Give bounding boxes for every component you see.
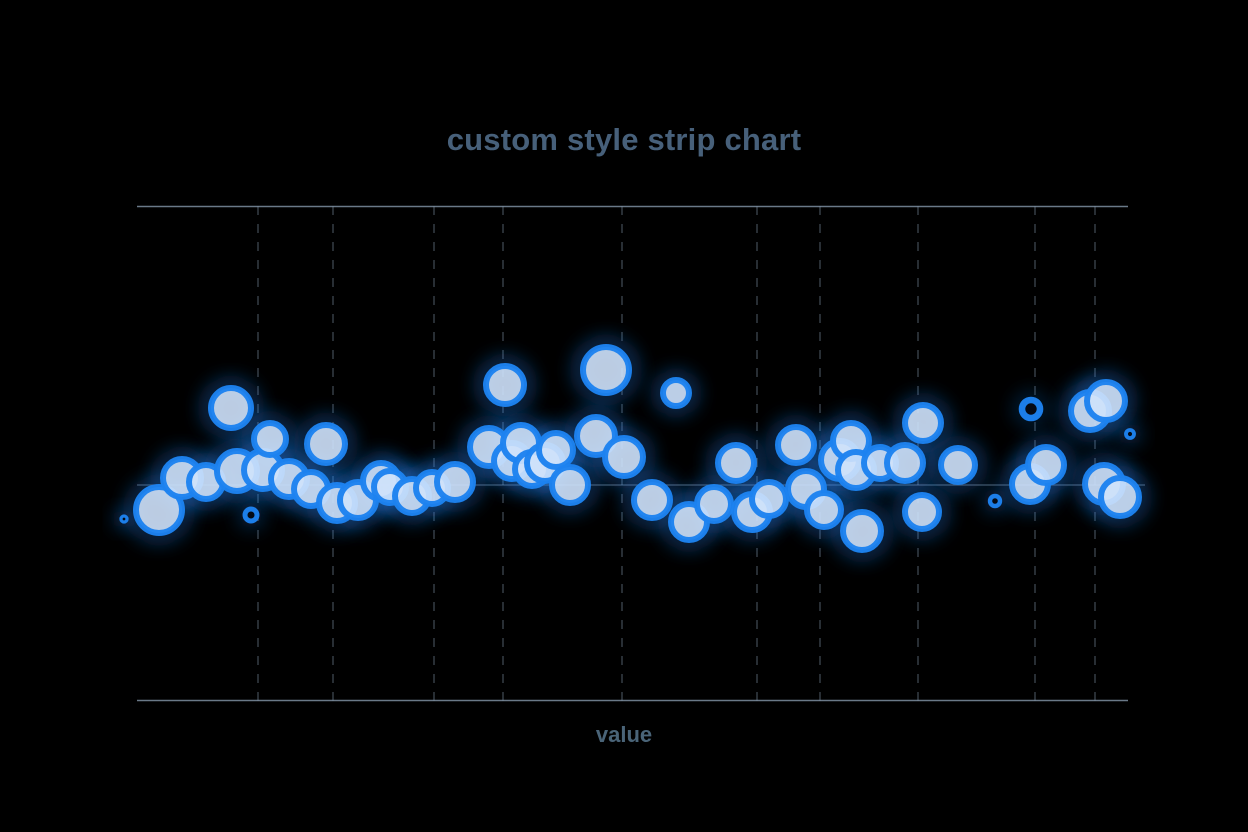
page-title: custom style strip chart: [0, 122, 1248, 158]
data-markers: [121, 347, 1139, 550]
plot-area: [137, 206, 1128, 701]
chart-figure: custom style strip chart: [0, 0, 1248, 832]
x-axis-label: value: [0, 722, 1248, 748]
strip-chart-svg: [137, 206, 1128, 701]
